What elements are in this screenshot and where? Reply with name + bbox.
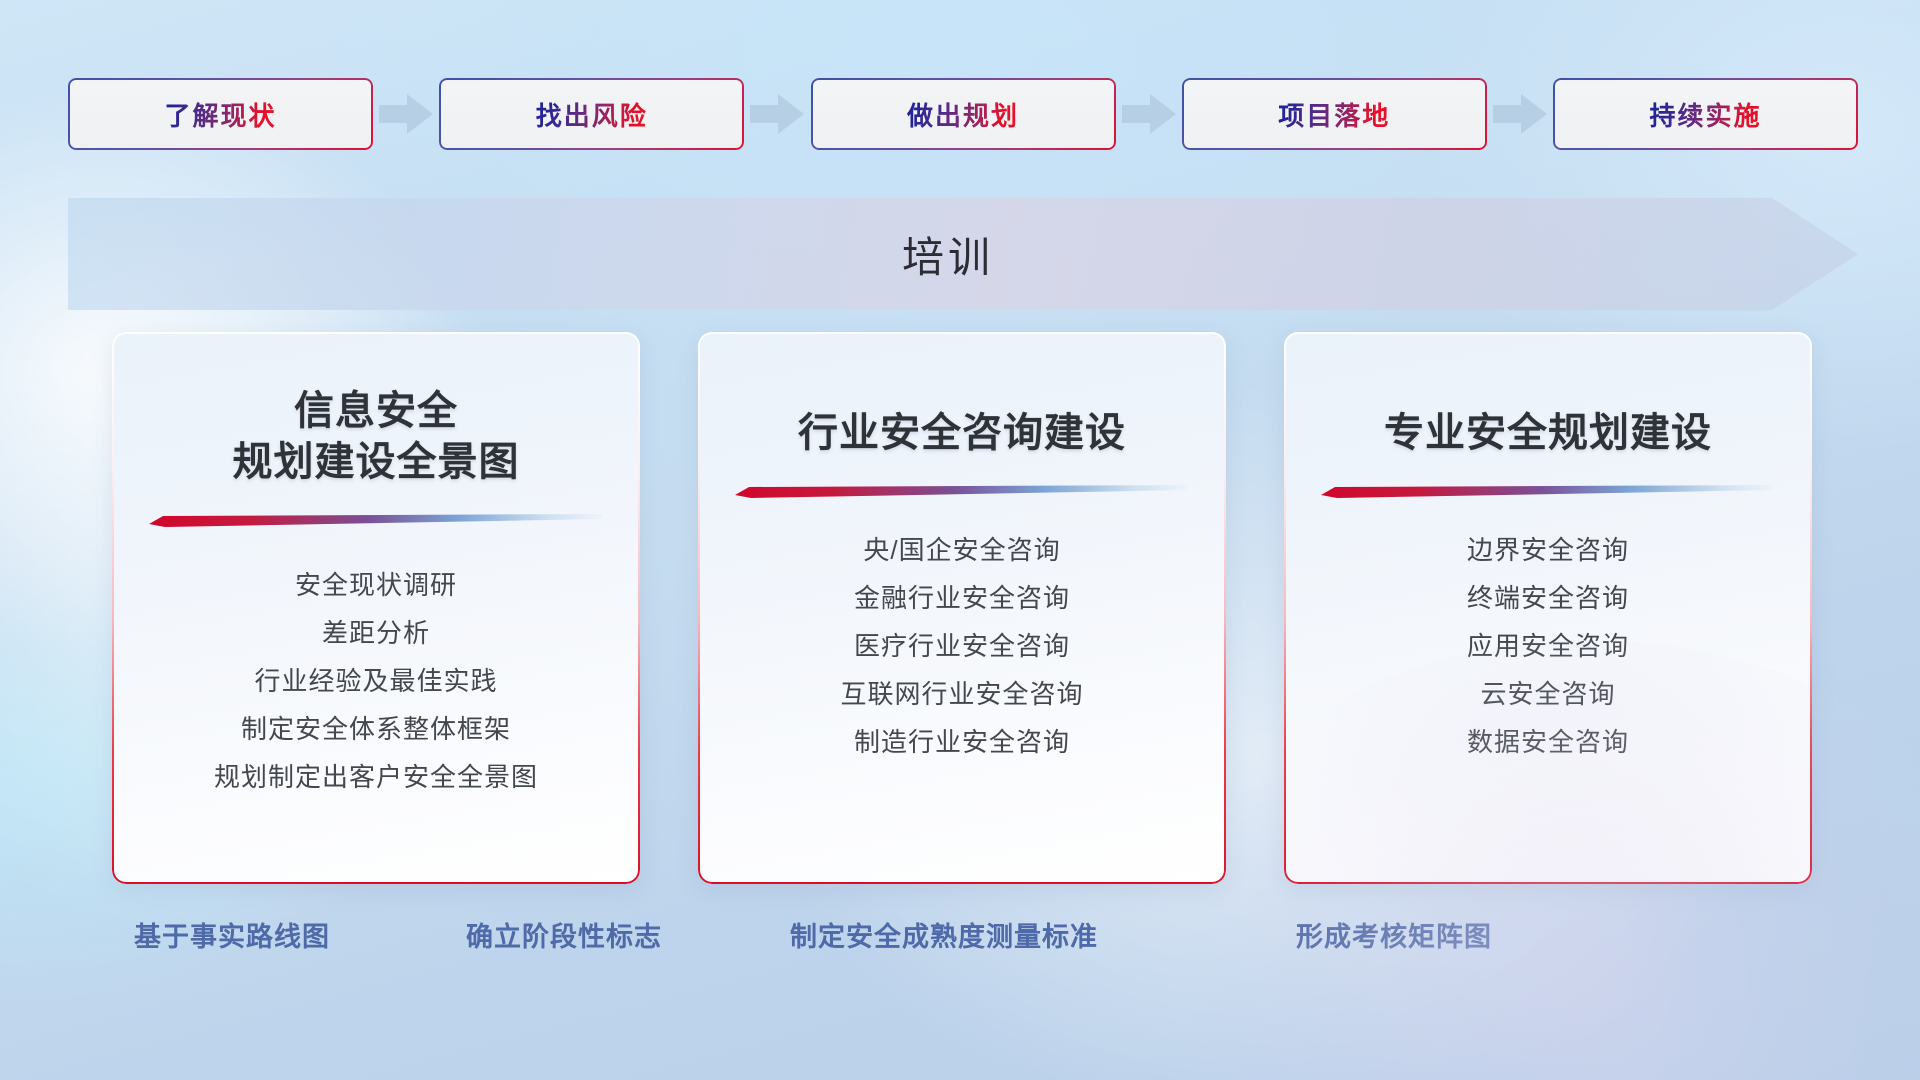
step-box-4[interactable]: 项目落地 xyxy=(1182,78,1487,150)
step-arrow-2 xyxy=(744,94,810,134)
list-item: 差距分析 xyxy=(112,609,640,657)
step-arrow-1 xyxy=(373,94,439,134)
card-1-list: 安全现状调研 差距分析 行业经验及最佳实践 制定安全体系整体框架 规划制定出客户… xyxy=(112,561,640,801)
list-item: 应用安全咨询 xyxy=(1284,622,1812,670)
card-professional-security-planning[interactable]: 专业安全规划建设 xyxy=(1284,332,1812,884)
step-label-3: 做出规划 xyxy=(907,96,1019,133)
list-item: 安全现状调研 xyxy=(112,561,640,609)
list-item: 央/国企安全咨询 xyxy=(698,526,1226,574)
card-3-title: 专业安全规划建设 xyxy=(1384,408,1712,459)
card-2-divider xyxy=(735,485,1189,498)
list-item: 数据安全咨询 xyxy=(1284,718,1812,766)
list-item: 边界安全咨询 xyxy=(1284,526,1812,574)
list-item: 制定安全体系整体框架 xyxy=(112,705,640,753)
card-2-title: 行业安全咨询建设 xyxy=(798,408,1126,459)
card-row: 信息安全 规划建设全景图 xyxy=(112,332,1812,884)
card-1-title: 信息安全 规划建设全景图 xyxy=(233,386,520,488)
footnote-row: 基于事实路线图 确立阶段性标志 制定安全成熟度测量标准 形成考核矩阵图 xyxy=(0,915,1920,965)
footnote-1: 基于事实路线图 xyxy=(134,915,330,954)
step-box-3[interactable]: 做出规划 xyxy=(811,78,1116,150)
card-3-title-line1: 专业安全规划建设 xyxy=(1384,411,1712,455)
card-1-title-line1: 信息安全 xyxy=(294,389,458,433)
footnote-4: 形成考核矩阵图 xyxy=(1296,915,1492,954)
card-industry-security-consulting[interactable]: 行业安全咨询建设 xyxy=(698,332,1226,884)
slide-canvas: 了解现状 找出风险 做出规划 项目落地 持续实施 培训 xyxy=(0,0,1920,1080)
footnote-2: 确立阶段性标志 xyxy=(466,915,662,954)
step-box-1[interactable]: 了解现状 xyxy=(68,78,373,150)
training-banner: 培训 xyxy=(68,198,1858,310)
list-item: 金融行业安全咨询 xyxy=(698,574,1226,622)
card-3-list: 边界安全咨询 终端安全咨询 应用安全咨询 云安全咨询 数据安全咨询 xyxy=(1284,526,1812,766)
step-arrow-3 xyxy=(1116,94,1182,134)
card-1-title-line2: 规划建设全景图 xyxy=(233,440,520,484)
step-label-2: 找出风险 xyxy=(536,96,648,133)
card-3-divider xyxy=(1321,485,1775,498)
list-item: 规划制定出客户安全全景图 xyxy=(112,753,640,801)
footnote-3: 制定安全成熟度测量标准 xyxy=(790,915,1098,954)
step-label-5: 持续实施 xyxy=(1649,96,1761,133)
banner-title: 培训 xyxy=(68,198,1858,310)
list-item: 云安全咨询 xyxy=(1284,670,1812,718)
step-label-1: 了解现状 xyxy=(164,96,276,133)
list-item: 医疗行业安全咨询 xyxy=(698,622,1226,670)
card-2-title-line1: 行业安全咨询建设 xyxy=(798,411,1126,455)
list-item: 互联网行业安全咨询 xyxy=(698,670,1226,718)
step-arrow-4 xyxy=(1487,94,1553,134)
step-label-4: 项目落地 xyxy=(1278,96,1390,133)
card-1-divider xyxy=(149,514,603,527)
list-item: 制造行业安全咨询 xyxy=(698,718,1226,766)
step-box-5[interactable]: 持续实施 xyxy=(1553,78,1858,150)
list-item: 行业经验及最佳实践 xyxy=(112,657,640,705)
step-box-2[interactable]: 找出风险 xyxy=(439,78,744,150)
card-information-security-blueprint[interactable]: 信息安全 规划建设全景图 xyxy=(112,332,640,884)
process-step-row: 了解现状 找出风险 做出规划 项目落地 持续实施 xyxy=(68,78,1858,150)
list-item: 终端安全咨询 xyxy=(1284,574,1812,622)
card-2-list: 央/国企安全咨询 金融行业安全咨询 医疗行业安全咨询 互联网行业安全咨询 制造行… xyxy=(698,526,1226,766)
